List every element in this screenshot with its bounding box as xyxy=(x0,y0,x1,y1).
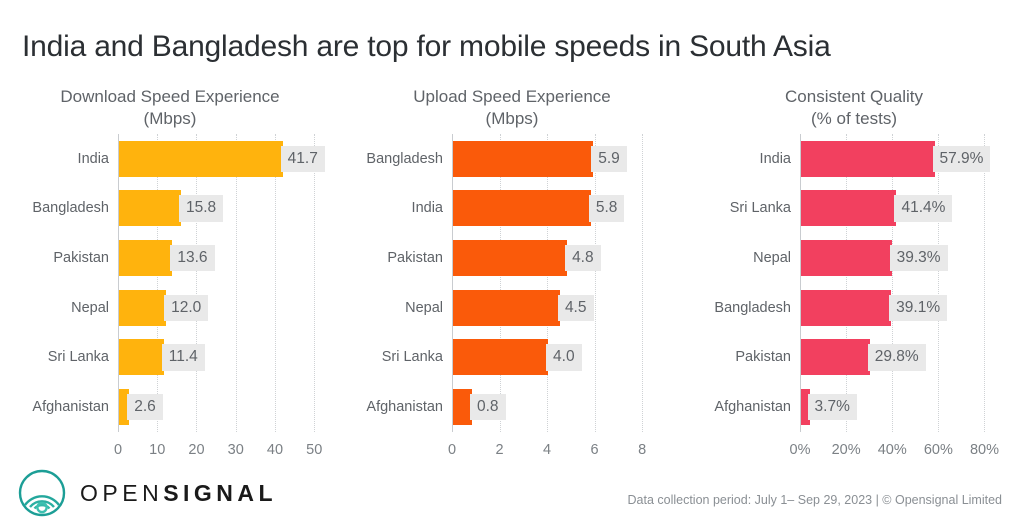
bar[interactable] xyxy=(801,290,891,326)
bar-row[interactable]: India5.8 xyxy=(340,190,684,226)
opensignal-logo: OPENSIGNAL xyxy=(18,469,277,517)
bar-value-label: 5.9 xyxy=(591,146,627,173)
bar[interactable] xyxy=(119,141,283,177)
bar-container: 2.6 xyxy=(119,389,340,425)
bar[interactable] xyxy=(119,290,166,326)
bar-value-label: 41.7 xyxy=(281,146,325,173)
chart-title-main: Consistent Quality xyxy=(785,87,923,106)
bar-container: 4.5 xyxy=(453,290,684,326)
chart-panels: Download Speed Experience (Mbps) India41… xyxy=(0,78,1024,478)
bar-container: 11.4 xyxy=(119,339,340,375)
bar-value-label: 0.8 xyxy=(470,394,506,421)
bar-row[interactable]: India57.9% xyxy=(684,141,1024,177)
page-title: India and Bangladesh are top for mobile … xyxy=(22,30,831,64)
bar-row[interactable]: Pakistan4.8 xyxy=(340,240,684,276)
logo-open-text: OPEN xyxy=(80,480,163,506)
opensignal-ripple-icon xyxy=(18,469,66,517)
bar[interactable] xyxy=(119,190,181,226)
category-label: Afghanistan xyxy=(332,399,452,415)
footer: OPENSIGNAL Data collection period: July … xyxy=(0,467,1024,529)
bar[interactable] xyxy=(453,240,567,276)
x-axis-tick: 80% xyxy=(970,442,999,458)
bar-value-label: 41.4% xyxy=(894,195,952,222)
bar-row[interactable]: Sri Lanka4.0 xyxy=(340,339,684,375)
x-axis-tick: 0 xyxy=(448,442,456,458)
bar-rows-upload: Bangladesh5.9India5.8Pakistan4.8Nepal4.5… xyxy=(340,134,684,432)
bar-container: 39.1% xyxy=(801,290,1024,326)
x-axis-tick: 50 xyxy=(306,442,322,458)
category-label: India xyxy=(680,151,800,167)
x-axis-quality: 0%20%40%60%80% xyxy=(684,442,1024,464)
category-label: Pakistan xyxy=(680,349,800,365)
bar[interactable] xyxy=(453,141,593,177)
x-axis-tick: 30 xyxy=(228,442,244,458)
bar-value-label: 2.6 xyxy=(127,394,163,421)
bar[interactable] xyxy=(801,339,870,375)
x-axis-tick: 0 xyxy=(114,442,122,458)
x-axis-tick: 40% xyxy=(878,442,907,458)
category-label: Pakistan xyxy=(0,250,118,266)
chart-title-main: Download Speed Experience xyxy=(60,87,279,106)
chart-title-sub: (Mbps) xyxy=(0,108,340,130)
x-axis-tick: 20% xyxy=(832,442,861,458)
bar-row[interactable]: Nepal39.3% xyxy=(684,240,1024,276)
bar-container: 15.8 xyxy=(119,190,340,226)
x-axis-tick: 0% xyxy=(790,442,811,458)
bar-row[interactable]: Nepal4.5 xyxy=(340,290,684,326)
bar-container: 29.8% xyxy=(801,339,1024,375)
bar-container: 12.0 xyxy=(119,290,340,326)
attribution-text: Data collection period: July 1– Sep 29, … xyxy=(628,493,1003,507)
chart-title-quality: Consistent Quality (% of tests) xyxy=(684,86,1024,130)
chart-title-sub: (Mbps) xyxy=(340,108,684,130)
category-label: Afghanistan xyxy=(0,399,118,415)
opensignal-wordmark: OPENSIGNAL xyxy=(80,480,277,507)
category-label: Nepal xyxy=(680,250,800,266)
category-label: Pakistan xyxy=(332,250,452,266)
x-axis-tick: 8 xyxy=(638,442,646,458)
logo-signal-text: SIGNAL xyxy=(163,480,277,506)
plot-area-upload: Bangladesh5.9India5.8Pakistan4.8Nepal4.5… xyxy=(340,134,684,432)
category-label: Afghanistan xyxy=(680,399,800,415)
bar-container: 41.7 xyxy=(119,141,340,177)
bar-value-label: 4.5 xyxy=(558,295,594,322)
chart-title-sub: (% of tests) xyxy=(684,108,1024,130)
bar-container: 5.8 xyxy=(453,190,684,226)
x-axis-tick: 6 xyxy=(591,442,599,458)
plot-area-download: India41.7Bangladesh15.8Pakistan13.6Nepal… xyxy=(0,134,340,432)
x-axis-download: 01020304050 xyxy=(0,442,340,464)
bar-value-label: 11.4 xyxy=(162,344,205,371)
bar-value-label: 4.8 xyxy=(565,245,601,272)
bar-container: 5.9 xyxy=(453,141,684,177)
bar-container: 41.4% xyxy=(801,190,1024,226)
bar-row[interactable]: Nepal12.0 xyxy=(0,290,340,326)
chart-title-download: Download Speed Experience (Mbps) xyxy=(0,86,340,130)
bar-row[interactable]: Bangladesh5.9 xyxy=(340,141,684,177)
bar[interactable] xyxy=(801,141,935,177)
bar-row[interactable]: India41.7 xyxy=(0,141,340,177)
bar-container: 4.0 xyxy=(453,339,684,375)
chart-panel-quality: Consistent Quality (% of tests) India57.… xyxy=(684,78,1024,478)
bar-row[interactable]: Afghanistan2.6 xyxy=(0,389,340,425)
bar-row[interactable]: Sri Lanka41.4% xyxy=(684,190,1024,226)
bar-container: 0.8 xyxy=(453,389,684,425)
bar-container: 13.6 xyxy=(119,240,340,276)
x-axis-upload: 02468 xyxy=(340,442,684,464)
bar-row[interactable]: Afghanistan3.7% xyxy=(684,389,1024,425)
bar-value-label: 12.0 xyxy=(164,295,208,322)
bar-container: 39.3% xyxy=(801,240,1024,276)
category-label: Bangladesh xyxy=(332,151,452,167)
category-label: Nepal xyxy=(0,300,118,316)
chart-title-upload: Upload Speed Experience (Mbps) xyxy=(340,86,684,130)
bar-value-label: 3.7% xyxy=(808,394,857,421)
chart-title-main: Upload Speed Experience xyxy=(413,87,611,106)
category-label: Nepal xyxy=(332,300,452,316)
category-label: Bangladesh xyxy=(680,300,800,316)
bar-value-label: 4.0 xyxy=(546,344,582,371)
category-label: India xyxy=(332,200,452,216)
bar-container: 3.7% xyxy=(801,389,1024,425)
x-axis-tick: 60% xyxy=(924,442,953,458)
bar[interactable] xyxy=(453,290,560,326)
category-label: Sri Lanka xyxy=(332,349,452,365)
bar-row[interactable]: Afghanistan0.8 xyxy=(340,389,684,425)
bar-rows-quality: India57.9%Sri Lanka41.4%Nepal39.3%Bangla… xyxy=(684,134,1024,432)
bar[interactable] xyxy=(801,240,892,276)
bar[interactable] xyxy=(453,339,548,375)
x-axis-tick: 4 xyxy=(543,442,551,458)
category-label: Sri Lanka xyxy=(0,349,118,365)
bar-row[interactable]: Pakistan29.8% xyxy=(684,339,1024,375)
x-axis-tick: 40 xyxy=(267,442,283,458)
bar-value-label: 57.9% xyxy=(933,146,991,173)
bar-value-label: 29.8% xyxy=(868,344,926,371)
category-label: Sri Lanka xyxy=(680,200,800,216)
bar-container: 4.8 xyxy=(453,240,684,276)
plot-area-quality: India57.9%Sri Lanka41.4%Nepal39.3%Bangla… xyxy=(684,134,1024,432)
bar-row[interactable]: Pakistan13.6 xyxy=(0,240,340,276)
bar-row[interactable]: Sri Lanka11.4 xyxy=(0,339,340,375)
bar[interactable] xyxy=(119,240,172,276)
category-label: India xyxy=(0,151,118,167)
bar-row[interactable]: Bangladesh15.8 xyxy=(0,190,340,226)
bar[interactable] xyxy=(801,190,896,226)
x-axis-tick: 10 xyxy=(149,442,165,458)
bar-value-label: 39.1% xyxy=(889,295,947,322)
x-axis-tick: 2 xyxy=(495,442,503,458)
bar[interactable] xyxy=(453,190,591,226)
x-axis-tick: 20 xyxy=(188,442,204,458)
bar-row[interactable]: Bangladesh39.1% xyxy=(684,290,1024,326)
bar-value-label: 39.3% xyxy=(890,245,948,272)
bar-rows-download: India41.7Bangladesh15.8Pakistan13.6Nepal… xyxy=(0,134,340,432)
bar-value-label: 15.8 xyxy=(179,195,223,222)
bar-value-label: 13.6 xyxy=(170,245,214,272)
category-label: Bangladesh xyxy=(0,200,118,216)
bar-value-label: 5.8 xyxy=(589,195,625,222)
bar-container: 57.9% xyxy=(801,141,1024,177)
bar[interactable] xyxy=(119,339,164,375)
chart-panel-upload: Upload Speed Experience (Mbps) Banglades… xyxy=(340,78,684,478)
chart-panel-download: Download Speed Experience (Mbps) India41… xyxy=(0,78,340,478)
